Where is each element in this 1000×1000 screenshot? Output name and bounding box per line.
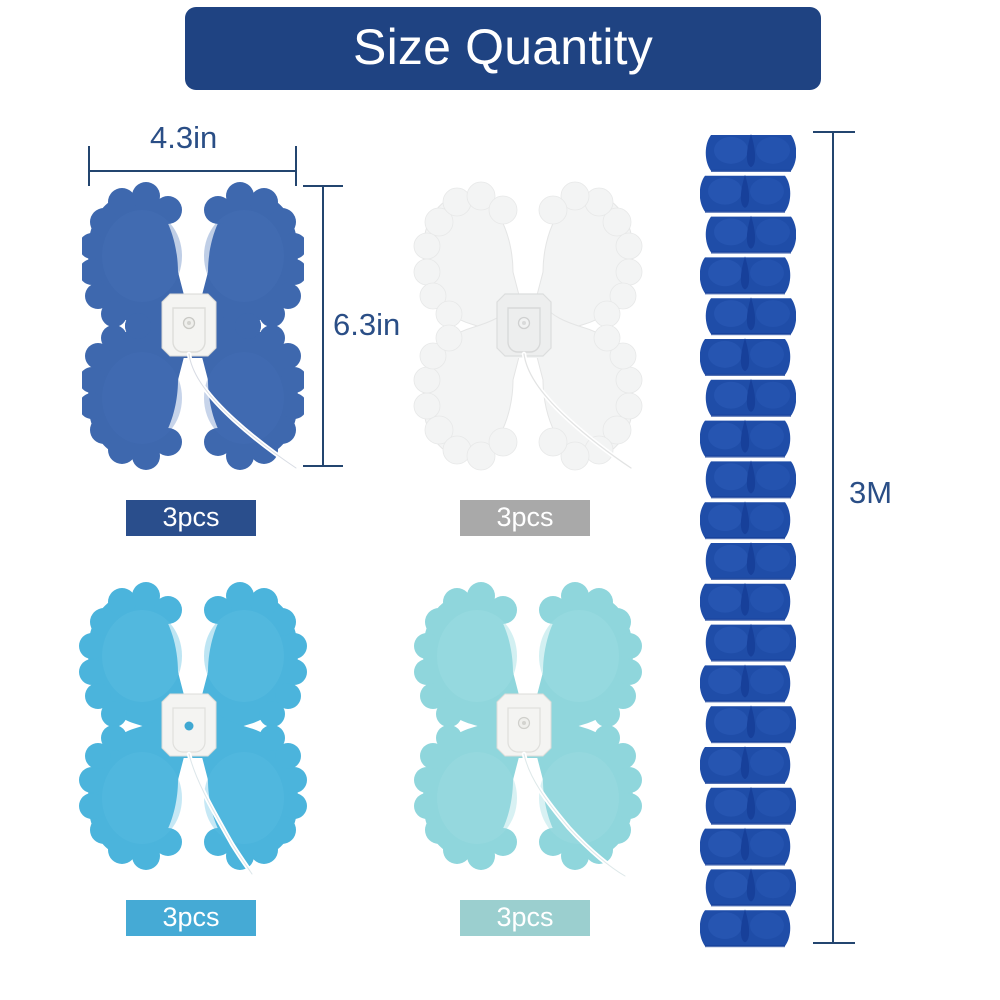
strip-segment bbox=[706, 542, 796, 580]
quantity-badge-navy: 3pcs bbox=[126, 500, 256, 536]
electrode-pad-white[interactable] bbox=[417, 176, 639, 476]
strip-segment bbox=[706, 705, 796, 743]
height-tick-bottom bbox=[303, 465, 343, 467]
width-dimension-label: 4.3in bbox=[150, 122, 217, 153]
strip-segment bbox=[700, 583, 790, 621]
infographic-canvas: Size Quantity 4.3in 6.3in 3M bbox=[0, 0, 1000, 1000]
strip-tick-bottom bbox=[813, 942, 855, 944]
strip-segment bbox=[700, 256, 790, 294]
height-dimension-label: 6.3in bbox=[333, 309, 400, 340]
strip-segment bbox=[700, 420, 790, 458]
strip-segment bbox=[706, 134, 796, 172]
strip-segment bbox=[700, 664, 790, 702]
page-title: Size Quantity bbox=[353, 22, 653, 72]
strip-tick-top bbox=[813, 131, 855, 133]
strip-segment bbox=[700, 501, 790, 539]
strip-segment bbox=[706, 868, 796, 906]
strip-segment bbox=[700, 909, 790, 947]
strip-segment bbox=[706, 216, 796, 254]
pad-connector-white bbox=[497, 294, 551, 356]
electrode-pad-teal[interactable] bbox=[417, 576, 639, 876]
strip-segment bbox=[706, 297, 796, 335]
strip-segment bbox=[706, 787, 796, 825]
height-dimension-line bbox=[322, 186, 324, 466]
strip-segment bbox=[706, 624, 796, 662]
quantity-badge-teal-label: 3pcs bbox=[496, 904, 553, 931]
height-tick-top bbox=[303, 185, 343, 187]
strip-segment bbox=[706, 460, 796, 498]
header-banner: Size Quantity bbox=[185, 7, 821, 90]
pad-connector-cyan bbox=[162, 694, 216, 756]
electrode-pad-navy[interactable] bbox=[82, 176, 304, 476]
strip-segment bbox=[700, 746, 790, 784]
pad-strip-roll[interactable] bbox=[700, 132, 796, 948]
quantity-badge-white: 3pcs bbox=[460, 500, 590, 536]
strip-segment bbox=[700, 175, 790, 213]
strip-segment bbox=[706, 379, 796, 417]
quantity-badge-white-label: 3pcs bbox=[496, 504, 553, 531]
quantity-badge-cyan-label: 3pcs bbox=[162, 904, 219, 931]
quantity-badge-navy-label: 3pcs bbox=[162, 504, 219, 531]
quantity-badge-cyan: 3pcs bbox=[126, 900, 256, 936]
pad-connector-teal bbox=[497, 694, 551, 756]
quantity-badge-teal: 3pcs bbox=[460, 900, 590, 936]
electrode-pad-cyan[interactable] bbox=[82, 576, 304, 876]
width-dimension-line bbox=[88, 170, 297, 172]
strip-length-label: 3M bbox=[849, 477, 892, 508]
pad-connector-navy bbox=[162, 294, 216, 356]
strip-segment bbox=[700, 338, 790, 376]
strip-dimension-line bbox=[832, 132, 834, 944]
strip-segment bbox=[700, 828, 790, 866]
